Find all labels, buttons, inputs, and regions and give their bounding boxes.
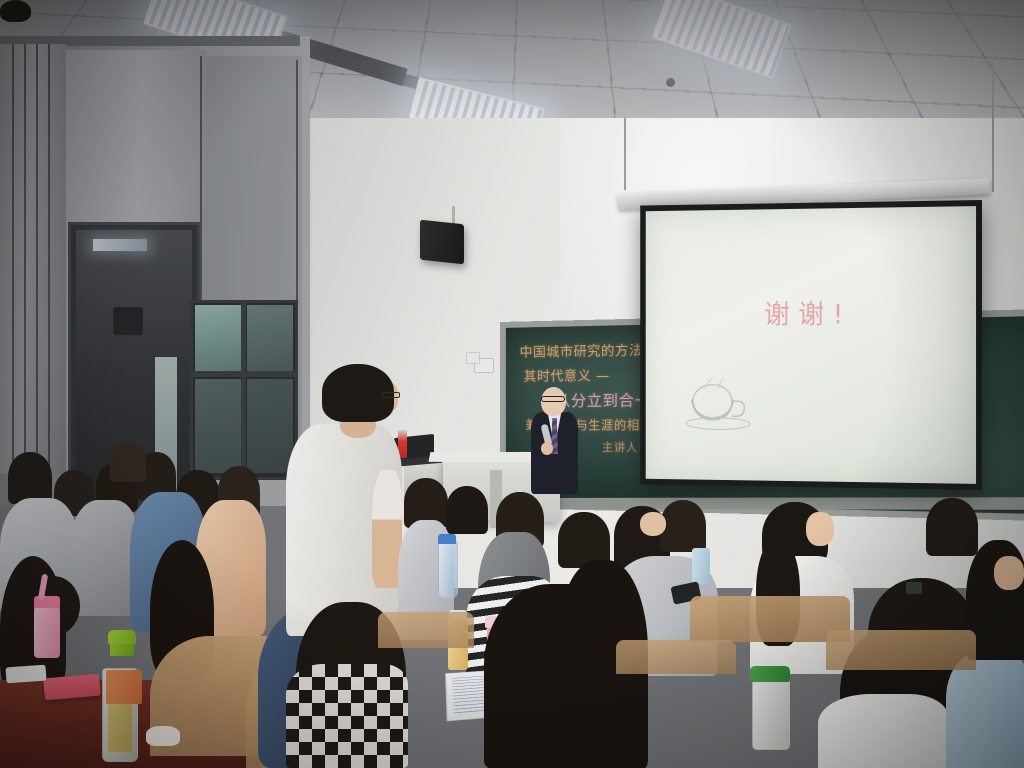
pink-cup[interactable]: [34, 606, 60, 658]
paper-sheet: [5, 665, 46, 684]
audience-face: [806, 512, 834, 546]
window-mullion: [241, 303, 246, 479]
lecture-hall-photo: 中国城市研究的方法论与话语体系的构建 其时代意义 — 从分立到合一 — 兼论学业…: [0, 0, 1024, 768]
audience-head: [926, 498, 978, 556]
projected-slide: 谢谢!: [646, 206, 976, 484]
window-pane: [247, 379, 293, 473]
eyeglasses-icon: [541, 396, 565, 402]
tissue: [146, 726, 180, 746]
audience-head: [446, 486, 488, 534]
corridor-ceiling-light: [93, 239, 147, 251]
chalk-line-2: 其时代意义 —: [524, 365, 610, 385]
wall-mounted-loudspeaker: [420, 220, 464, 265]
teacup-icon: [681, 372, 771, 433]
bottle-cap-green[interactable]: [108, 630, 136, 644]
presenter: [0, 0, 31, 22]
partition-seam: [48, 44, 50, 470]
partition-panel: [0, 44, 66, 474]
eyeglasses-icon: [382, 392, 400, 398]
bottle-cap-blue[interactable]: [438, 534, 456, 544]
pull-down-projection-screen: 谢谢!: [640, 200, 982, 490]
audience-face: [640, 512, 666, 536]
bottle-cap-green[interactable]: [750, 666, 790, 682]
screen-support-cord: [624, 118, 626, 190]
interior-window: [190, 300, 298, 480]
light-switch-plate[interactable]: [466, 352, 480, 364]
water-bottle[interactable]: [438, 540, 458, 598]
window-mullion: [193, 371, 297, 377]
screen-support-cord: [992, 46, 994, 192]
audience-head: [110, 442, 146, 482]
window-pane: [195, 305, 241, 371]
audience-face: [994, 556, 1024, 590]
chalk-line-5: 主讲人: [602, 439, 638, 456]
water-bottle[interactable]: [692, 548, 710, 584]
seat-back: [826, 630, 976, 670]
window-pane: [195, 379, 241, 473]
seat-back: [616, 640, 736, 674]
bottle-contents: [108, 700, 132, 752]
orange-paper-cup[interactable]: [106, 670, 142, 704]
corridor-speaker: [113, 307, 143, 335]
partition-seam: [24, 44, 26, 474]
partition-seam: [36, 44, 38, 472]
hair-clip: [906, 582, 922, 594]
audience-body: [818, 694, 948, 768]
audience-head: [660, 500, 706, 552]
slide-thank-you-text: 谢谢!: [646, 292, 976, 331]
window-pane: [247, 305, 293, 371]
patterned-top-student: [286, 664, 408, 768]
water-bottle[interactable]: [752, 676, 790, 750]
partition-seam: [12, 44, 14, 474]
seat-back: [378, 612, 474, 648]
presenter-hand: [541, 442, 553, 455]
presenter-hair: [0, 0, 31, 22]
audience-head: [8, 452, 52, 504]
